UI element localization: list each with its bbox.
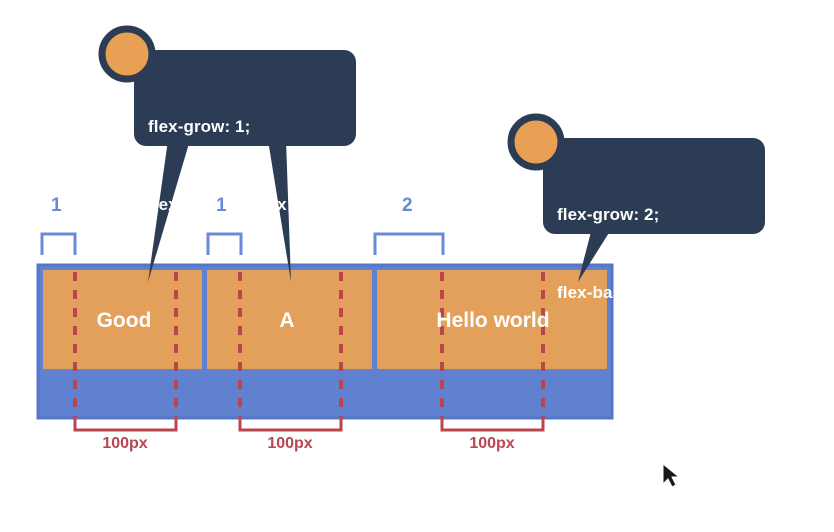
orange-dot-icon (511, 117, 561, 167)
basis-label-3: 100px (469, 434, 514, 453)
callout-2-text: flex-grow: 2; flex-basis: 100px; (557, 150, 701, 358)
grow-label-2: 1 (216, 195, 227, 217)
basis-label-1: 100px (102, 434, 147, 453)
grow-label-1: 1 (51, 195, 62, 217)
callout-1-text: flex-grow: 1; flex-basis: 100px; (148, 62, 292, 270)
flex-item-label-hello-world: Hello world (436, 309, 549, 333)
diagram-canvas: flex-grow: 1; flex-basis: 100px; flex-gr… (0, 0, 834, 532)
mouse-pointer-icon (663, 464, 679, 487)
basis-label-2: 100px (267, 434, 312, 453)
callout-1-line1: flex-grow: 1; (148, 114, 292, 140)
flex-item-label-a: A (279, 309, 294, 333)
callout-2-line2: flex-basis: 100px; (557, 280, 701, 306)
grow-label-3: 2 (402, 195, 413, 217)
flex-item-label-good: Good (97, 309, 152, 333)
basis-brackets (75, 418, 543, 430)
orange-dot-icon (102, 29, 152, 79)
callout-2-line1: flex-grow: 2; (557, 202, 701, 228)
